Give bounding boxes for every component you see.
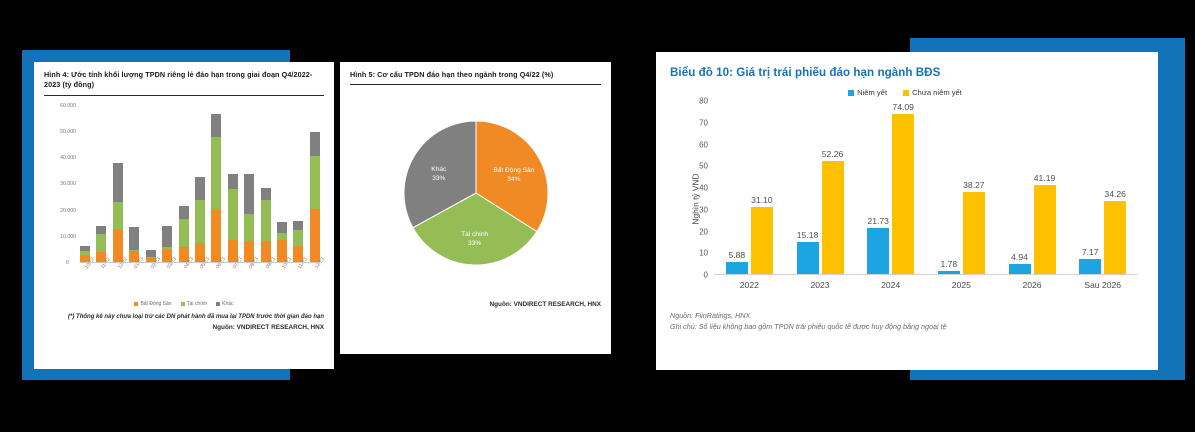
figure10-bar: 21.73 xyxy=(867,228,889,275)
figure10-bar-groups: 5.8831.10202215.1852.26202321.7374.09202… xyxy=(714,101,1138,275)
figure5-title-rule xyxy=(350,84,601,85)
figure10-bar-group: 1.7838.272025 xyxy=(926,101,997,275)
left-figure-group: Hình 4: Ước tính khối lượng TPDN riêng l… xyxy=(0,0,600,432)
figure10-bar: 38.27 xyxy=(963,192,985,275)
figure10-bar-value: 74.09 xyxy=(892,102,914,112)
figure10-notes: Nguồn: FiinRatings, HNX Ghi chú: Số liệu… xyxy=(670,311,1140,333)
figure4-bar-column: 07/23 xyxy=(228,106,238,263)
figure4-bar-segment xyxy=(310,132,320,156)
figure4-bar-column: 04/23 xyxy=(179,106,189,263)
right-figure-group: Biểu đồ 10: Giá trị trái phiếu đáo hạn n… xyxy=(640,0,1195,432)
figure10-x-tick: 2026 xyxy=(1022,280,1041,290)
figure4-legend-swatch xyxy=(216,302,220,306)
figure10-y-tick: 70 xyxy=(699,118,708,127)
figure10-plot-area: 5.8831.10202215.1852.26202321.7374.09202… xyxy=(714,101,1138,275)
figure5-slice-value: 34% xyxy=(507,177,520,184)
figure10-bar-value: 21.73 xyxy=(867,216,889,226)
figure10-legend-item: Niêm yết xyxy=(848,88,887,97)
figure5-slice-label: Tài chính xyxy=(461,232,488,239)
figure10-bar: 41.19 xyxy=(1034,185,1056,275)
figure4-bar-column: 12/22 xyxy=(113,106,123,263)
figure10-y-tick: 30 xyxy=(699,205,708,214)
figure10-note: Ghi chú: Số liệu không bao gồm TPDN trái… xyxy=(670,322,1140,333)
figure10-card: Biểu đồ 10: Giá trị trái phiếu đáo hạn n… xyxy=(656,52,1158,370)
figure4-bar-segment xyxy=(195,200,205,243)
figure5-slice-value: 33% xyxy=(468,241,481,248)
figure4-plot-area: 10/2211/2212/2201/2302/2303/2304/2305/23… xyxy=(80,106,320,263)
figure10-bar: 15.18 xyxy=(797,242,819,275)
figure4-bar-segment xyxy=(113,163,123,201)
figure10-y-tick: 60 xyxy=(699,140,708,149)
figure4-bar-column: 11/23 xyxy=(293,106,303,263)
figure10-bar-value: 52.26 xyxy=(822,149,844,159)
figure10-y-ticks: 01020304050607080 xyxy=(686,101,708,275)
figure4-legend-label: Bất Động Sản xyxy=(140,301,171,307)
figure4-bar-segment xyxy=(211,137,221,209)
figure4-bar-column: 10/22 xyxy=(80,106,90,263)
figure4-bar-column: 02/23 xyxy=(146,106,156,263)
figure4-bar-segment xyxy=(129,227,139,250)
figure4-bar-column: 03/23 xyxy=(162,106,172,263)
figure4-bar-segment xyxy=(179,219,189,248)
figure4-bar-segment xyxy=(310,156,320,209)
figure10-y-tick: 50 xyxy=(699,162,708,171)
figure4-legend-swatch xyxy=(134,302,138,306)
figure4-bar-column: 05/23 xyxy=(195,106,205,263)
figure4-bar-segment xyxy=(244,174,254,214)
figure10-bar: 52.26 xyxy=(822,161,844,275)
figure4-bar-segment xyxy=(211,114,221,138)
figure4-bar-segment xyxy=(261,188,271,200)
figure10-bar-value: 4.94 xyxy=(1011,252,1028,262)
figure10-legend-item: Chưa niêm yết xyxy=(903,88,962,97)
figure4-bar-segment xyxy=(277,222,287,233)
figure10-y-tick: 0 xyxy=(704,271,708,280)
figure10-bar-value: 7.17 xyxy=(1082,247,1099,257)
figure4-bar-segment xyxy=(195,177,205,200)
figure5-pie-svg: Bất Động Sản34%Tài chính33%Khác33% xyxy=(401,118,551,268)
figure4-bar-segment xyxy=(244,214,254,241)
figure10-x-axis-line xyxy=(714,274,1138,275)
figure10-bar: 31.10 xyxy=(751,207,773,275)
figure4-y-tick: 30.000 xyxy=(60,181,80,187)
figure4-bar-segment xyxy=(310,209,320,263)
figure4-x-axis-line xyxy=(80,262,320,263)
figure10-legend-label: Chưa niêm yết xyxy=(912,88,962,97)
figure10-legend-swatch xyxy=(848,90,854,96)
figure4-y-tick: 10.000 xyxy=(60,234,80,240)
figure4-chart: 10/2211/2212/2201/2302/2303/2304/2305/23… xyxy=(44,100,324,285)
figure4-bar-segment xyxy=(113,202,123,229)
figure4-y-tick: 50.000 xyxy=(60,129,80,135)
figure4-legend: Bất Động SảnTài chínhKhác xyxy=(44,301,324,307)
figure4-bar-column: 09/23 xyxy=(261,106,271,263)
figure10-x-tick: Sau 2026 xyxy=(1084,280,1121,290)
figure10-bar-group: 15.1852.262023 xyxy=(785,101,856,275)
figure5-slice-label: Bất Động Sản xyxy=(493,166,534,175)
figure4-bar-column: 08/23 xyxy=(244,106,254,263)
figure4-bar-segment xyxy=(96,234,106,252)
figure10-x-tick: 2023 xyxy=(810,280,829,290)
figure10-bar-value: 5.88 xyxy=(728,250,745,260)
figure5-title: Hình 5: Cơ cấu TPDN đáo hạn theo ngành t… xyxy=(350,70,601,80)
figure4-bar-column: 11/22 xyxy=(96,106,106,263)
figure5-card: Hình 5: Cơ cấu TPDN đáo hạn theo ngành t… xyxy=(340,62,611,354)
figure4-title: Hình 4: Ước tính khối lượng TPDN riêng l… xyxy=(44,70,324,91)
figure4-legend-item: Khác xyxy=(216,301,233,307)
figure10-y-tick: 10 xyxy=(699,249,708,258)
figure4-y-tick-zero: 0 xyxy=(66,260,69,266)
figure4-legend-item: Tài chính xyxy=(181,301,208,307)
figure4-bar-column: 12/23 xyxy=(310,106,320,263)
figure4-y-tick: 60.000 xyxy=(60,103,80,109)
figure10-bar-group: 7.1734.26Sau 2026 xyxy=(1067,101,1138,275)
figure4-bar-segment xyxy=(113,229,123,263)
figure4-bar-segment xyxy=(261,200,271,241)
figure4-bar-segment xyxy=(162,226,172,247)
figure10-x-tick: 2022 xyxy=(740,280,759,290)
figure4-bar-segment xyxy=(96,226,106,234)
figure10-bar-group: 5.8831.102022 xyxy=(714,101,785,275)
figure4-y-tick: 20.000 xyxy=(60,208,80,214)
figure4-card: Hình 4: Ước tính khối lượng TPDN riêng l… xyxy=(34,62,334,369)
figure4-bar-series: 10/2211/2212/2201/2302/2303/2304/2305/23… xyxy=(80,106,320,263)
figure5-source: Nguồn: VNDIRECT RESEARCH, HNX xyxy=(350,301,601,308)
figure10-title: Biểu đồ 10: Giá trị trái phiếu đáo hạn n… xyxy=(670,66,1140,79)
figure4-legend-label: Khác xyxy=(222,301,233,307)
figure4-bar-segment xyxy=(228,174,238,189)
figure10-bar-value: 31.10 xyxy=(751,195,773,205)
figure10-y-tick: 80 xyxy=(699,97,708,106)
figure10-bar-group: 21.7374.092024 xyxy=(855,101,926,275)
figure4-y-tick: 40.000 xyxy=(60,155,80,161)
figure10-bar: 7.17 xyxy=(1079,259,1101,275)
figure4-bar-segment xyxy=(293,221,303,230)
figure10-y-tick: 40 xyxy=(699,184,708,193)
figure4-bar-segment xyxy=(211,209,221,263)
figure10-x-tick: 2024 xyxy=(881,280,900,290)
figure4-bar-column: 01/23 xyxy=(129,106,139,263)
figure10-bar: 34.26 xyxy=(1104,201,1126,276)
figure4-bar-segment xyxy=(179,206,189,219)
figure4-footnote: (*) Thống kê này chưa loại trừ các DN ph… xyxy=(44,313,324,322)
figure5-chart: Bất Động Sản34%Tài chính33%Khác33% xyxy=(350,87,601,299)
figure4-bar-segment xyxy=(277,233,287,240)
figure10-bar-group: 4.9441.192026 xyxy=(997,101,1068,275)
figure4-bar-column: 06/23 xyxy=(211,106,221,263)
figure10-legend-swatch xyxy=(903,90,909,96)
figure10-chart: Nghìn tỷ VND 01020304050607080 5.8831.10… xyxy=(670,101,1140,297)
figure10-bar-value: 1.78 xyxy=(940,259,957,269)
figure4-bar-column: 10/23 xyxy=(277,106,287,263)
figure4-legend-item: Bất Động Sản xyxy=(134,301,171,307)
figure5-slice-label: Khác xyxy=(431,166,447,173)
figure10-bar-value: 34.26 xyxy=(1104,189,1126,199)
figure10-x-tick: 2025 xyxy=(952,280,971,290)
figure10-bar-value: 41.19 xyxy=(1034,173,1056,183)
figure4-bar-segment xyxy=(293,230,303,246)
figure10-bar: 74.09 xyxy=(892,114,914,275)
figure10-bar-value: 15.18 xyxy=(797,230,819,240)
figure4-legend-swatch xyxy=(181,302,185,306)
figure10-legend: Niêm yếtChưa niêm yết xyxy=(670,88,1140,97)
figure4-title-rule xyxy=(44,95,324,96)
figure10-legend-label: Niêm yết xyxy=(857,88,887,97)
figure4-source: Nguồn: VNDIRECT RESEARCH, HNX xyxy=(44,324,324,331)
figure10-source: Nguồn: FiinRatings, HNX xyxy=(670,311,1140,322)
figure10-bar-value: 38.27 xyxy=(963,180,985,190)
figure4-legend-label: Tài chính xyxy=(187,301,208,307)
figure10-y-tick: 20 xyxy=(699,227,708,236)
figure4-bar-segment xyxy=(228,189,238,240)
figure5-slice-value: 33% xyxy=(432,175,445,182)
